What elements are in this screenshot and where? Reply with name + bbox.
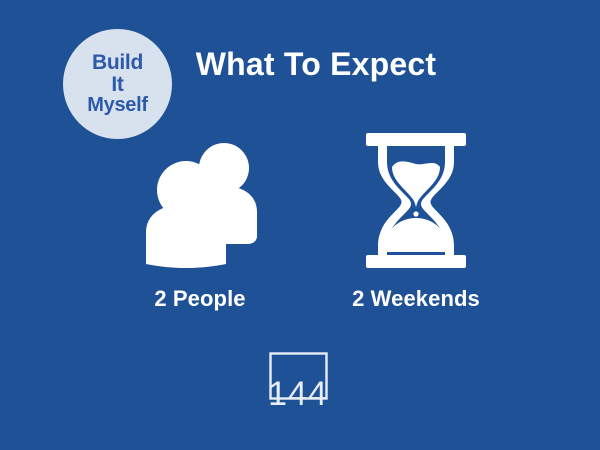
logo-text: 144 — [268, 375, 328, 410]
slide-canvas: Build It Myself What To Expect — [0, 0, 600, 450]
page-title: What To Expect — [176, 46, 456, 83]
caption-people: 2 People — [108, 286, 292, 312]
badge-line-1: Build — [92, 52, 143, 73]
logo-144: 144 — [262, 348, 338, 410]
build-it-myself-badge: Build It Myself — [63, 29, 172, 139]
hourglass-icon — [360, 128, 472, 272]
caption-weekends: 2 Weekends — [320, 286, 512, 312]
badge-line-2: It — [111, 74, 123, 95]
two-people-icon — [146, 136, 270, 268]
badge-line-3: Myself — [87, 95, 147, 115]
